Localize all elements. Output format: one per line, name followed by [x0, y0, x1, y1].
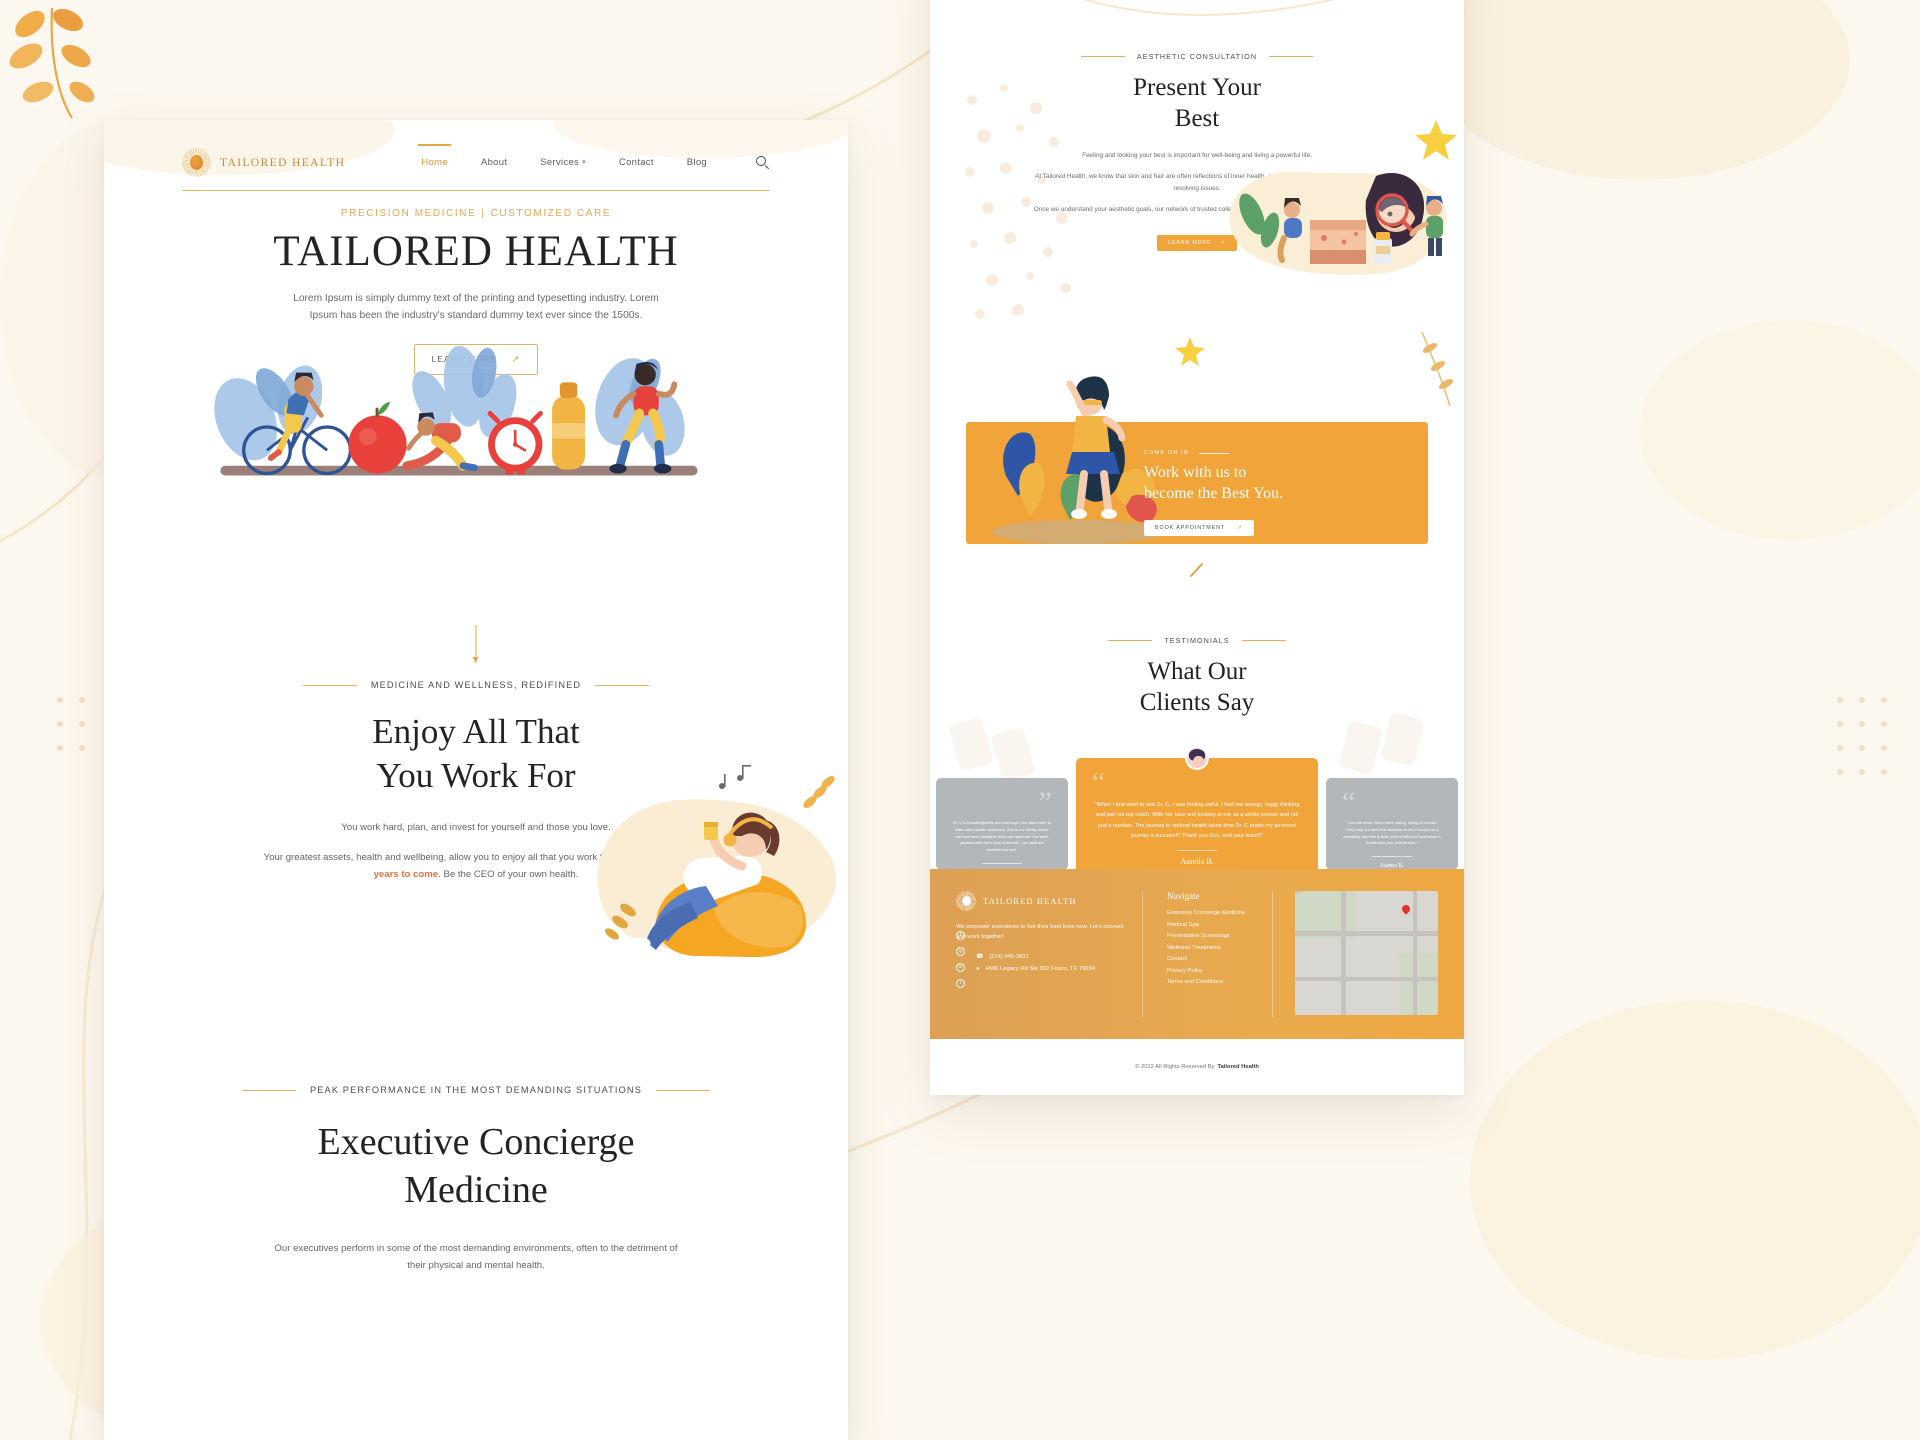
executive-section-label: PEAK PERFORMANCE IN THE MOST DEMANDING S… [104, 1085, 848, 1095]
footer-address: 4606 Legacy Rd Ste 302 Frisco, TX 75034 [986, 966, 1095, 972]
hero-illustration [199, 330, 719, 490]
footer-navigate-column: Navigate Executive Concierge Medicine Me… [1143, 891, 1273, 1017]
nav-link-home[interactable]: Home [421, 153, 448, 172]
nav-links: Home About Services▾ Contact Blog [421, 153, 707, 172]
hero-eyebrow-separator: | [481, 208, 485, 219]
footer-about-column: TAILORED HEALTH f ◎ in t We empower exec… [956, 891, 1143, 1017]
nav-link-about[interactable]: About [481, 153, 507, 172]
nav-link-services[interactable]: Services▾ [540, 153, 586, 172]
footer-about-text: We empower executives to live their best… [956, 922, 1128, 942]
footer-brand[interactable]: TAILORED HEALTH [956, 891, 1128, 911]
hero-eyebrow-left: PRECISION MEDICINE [341, 208, 476, 219]
site-navigation: TAILORED HEALTH Home About Services▾ Con… [182, 135, 770, 191]
testimonial-right-quote: "You will never find a more caring, lovi… [1342, 820, 1442, 847]
footer-contact: ☎ (214) 945-3621 ● 4606 Legacy Rd Ste 30… [956, 954, 1128, 972]
footer-nav-heading: Navigate [1167, 891, 1272, 901]
executive-label-text: PEAK PERFORMANCE IN THE MOST DEMANDING S… [310, 1085, 642, 1095]
label-rule-left [1081, 56, 1125, 57]
testimonials-title-line1: What Our [1147, 658, 1246, 685]
map-pin-icon [1400, 903, 1411, 914]
aesthetic-title-line2: Best [1175, 105, 1219, 132]
nav-link-blog[interactable]: Blog [687, 153, 707, 172]
wellness-section-label: MEDICINE AND WELLNESS, REDIFINED [104, 680, 848, 690]
wellness-p2-b: . Be the CEO of your own health. [438, 869, 578, 880]
footer-phone: (214) 945-3621 [989, 954, 1029, 960]
footer-link-contact[interactable]: Contact [1167, 956, 1272, 962]
aesthetic-learn-more-button[interactable]: LEARN MORE ↗ [1157, 235, 1237, 251]
cta-eyebrow-rule [1199, 453, 1229, 454]
cta-content: COME ON IN Work with us to become the Be… [1144, 450, 1394, 536]
avatar [1185, 746, 1209, 770]
wellness-illustration [594, 760, 848, 965]
testimonial-left-quote: Dr. C is knowledgeable and thorough, she… [952, 820, 1052, 854]
aesthetic-illustration [1226, 158, 1452, 288]
wellness-p2-a: Your greatest assets, health and wellbei… [264, 852, 622, 863]
website-mockup-page-home: TAILORED HEALTH Home About Services▾ Con… [104, 120, 848, 1440]
executive-section: PEAK PERFORMANCE IN THE MOST DEMANDING S… [104, 1085, 848, 1274]
nav-link-services-label: Services [540, 157, 579, 168]
arrow-up-right-icon: ↗ [1237, 525, 1242, 531]
hero-title: TAILORED HEALTH [104, 228, 848, 275]
pencil-icon [1188, 560, 1208, 580]
hero-eyebrow-right: CUSTOMIZED CARE [491, 208, 612, 219]
executive-title-line1: Executive Concierge [318, 1121, 635, 1163]
footer-address-row[interactable]: ● 4606 Legacy Rd Ste 302 Frisco, TX 7503… [976, 966, 1128, 972]
footer-link-executive-concierge-medicine[interactable]: Executive Concierge Medicine [1167, 910, 1272, 916]
testimonial-center-quote: "When I first went to see Dr. C, I was f… [1092, 800, 1302, 841]
footer-link-medical-spa[interactable]: Medical Spa [1167, 922, 1272, 928]
testimonial-card-left[interactable]: ” Dr. C is knowledgeable and thorough, s… [936, 778, 1068, 870]
linkedin-icon[interactable]: in [956, 963, 965, 972]
wellness-title-line1: Enjoy All That [372, 712, 579, 751]
cta-eyebrow: COME ON IN [1144, 450, 1394, 456]
executive-body: Our executives perform in some of the mo… [266, 1241, 686, 1275]
label-rule-right [1242, 640, 1286, 641]
executive-paragraph: Our executives perform in some of the mo… [266, 1241, 686, 1275]
label-rule-left [303, 685, 357, 686]
sun-logo-icon [956, 891, 976, 911]
phone-icon: ☎ [976, 954, 983, 960]
cta-title-line2: become the Best You. [1144, 485, 1283, 502]
footer-map[interactable] [1295, 891, 1438, 1015]
aesthetic-label-text: AESTHETIC CONSULTATION [1137, 52, 1257, 61]
footer-link-preventative-screenings[interactable]: Preventative Screenings [1167, 933, 1272, 939]
testimonial-card-right[interactable]: “ "You will never find a more caring, lo… [1326, 778, 1458, 870]
branch-decoration [1416, 328, 1464, 418]
executive-title: Executive Concierge Medicine [104, 1119, 848, 1215]
search-icon[interactable] [756, 156, 770, 170]
instagram-icon[interactable]: ◎ [956, 947, 965, 956]
label-rule-right [1269, 56, 1313, 57]
label-rule-left [1108, 640, 1152, 641]
copyright-brand: Tailored Health [1217, 1064, 1258, 1070]
label-rule-right [595, 685, 649, 686]
location-pin-icon: ● [976, 966, 980, 972]
cta-eyebrow-text: COME ON IN [1144, 450, 1189, 456]
sun-logo-icon [182, 148, 211, 177]
facebook-icon[interactable]: f [956, 931, 965, 940]
testimonial-divider [982, 863, 1022, 864]
aesthetic-learn-more-label: LEARN MORE [1168, 240, 1211, 246]
testimonial-center-name: Aurelia B. [1092, 857, 1302, 866]
quote-mark-icon: “ [1342, 794, 1442, 812]
hero-eyebrow: PRECISION MEDICINE|CUSTOMIZED CARE [104, 208, 848, 219]
wellness-title-line2: You Work For [376, 756, 575, 795]
scroll-down-arrow-icon[interactable] [476, 625, 477, 663]
quote-mark-icon: “ [1092, 774, 1302, 792]
wellness-label-text: MEDICINE AND WELLNESS, REDIFINED [371, 680, 581, 690]
footer-link-wellness-treatments[interactable]: Wellness Treatments [1167, 945, 1272, 951]
cta-title-line1: Work with us to [1144, 464, 1246, 481]
arrow-up-right-icon: ↗ [1221, 240, 1226, 246]
footer-social-links: f ◎ in t [956, 931, 965, 988]
testimonials-section-label: TESTIMONIALS [930, 636, 1464, 645]
twitter-icon[interactable]: t [956, 979, 965, 988]
site-footer: TAILORED HEALTH f ◎ in t We empower exec… [930, 869, 1464, 1039]
testimonial-divider [1372, 856, 1412, 857]
page-top-decoration [930, 0, 1464, 50]
copyright-text: © 2022 All Rights Reserved By [1135, 1064, 1214, 1070]
website-mockup-page-services: AESTHETIC CONSULTATION Present Your Best… [930, 0, 1464, 1095]
quote-mark-icon: ” [952, 794, 1052, 812]
label-rule-left [242, 1090, 296, 1091]
testimonials-label-text: TESTIMONIALS [1164, 636, 1229, 645]
book-appointment-button[interactable]: BOOK APPOINTMENT ↗ [1144, 520, 1254, 536]
book-appointment-label: BOOK APPOINTMENT [1155, 525, 1225, 531]
testimonial-divider [1177, 850, 1217, 851]
footer-brand-name: TAILORED HEALTH [983, 896, 1077, 906]
footer-link-privacy-policy[interactable]: Privacy Policy [1167, 968, 1272, 974]
aesthetic-section-label: AESTHETIC CONSULTATION [930, 52, 1464, 61]
brand-logo[interactable]: TAILORED HEALTH [182, 148, 345, 177]
nav-link-contact[interactable]: Contact [619, 153, 654, 172]
chevron-down-icon: ▾ [582, 158, 586, 166]
brand-name: TAILORED HEALTH [220, 157, 345, 169]
hero-subtitle: Lorem Ipsum is simply dummy text of the … [286, 291, 666, 324]
aesthetic-title: Present Your Best [930, 72, 1464, 134]
footer-phone-row[interactable]: ☎ (214) 945-3621 [976, 954, 1128, 960]
cta-title: Work with us to become the Best You. [1144, 463, 1394, 505]
footer-link-terms-and-conditions[interactable]: Terms and Conditions [1167, 979, 1272, 985]
testimonial-card-center[interactable]: “ "When I first went to see Dr. C, I was… [1076, 758, 1318, 880]
executive-title-line2: Medicine [404, 1169, 548, 1211]
cta-band: COME ON IN Work with us to become the Be… [966, 422, 1428, 544]
footer-copyright: © 2022 All Rights Reserved By Tailored H… [930, 1039, 1464, 1095]
label-rule-right [656, 1090, 710, 1091]
aesthetic-title-line1: Present Your [1133, 74, 1261, 101]
